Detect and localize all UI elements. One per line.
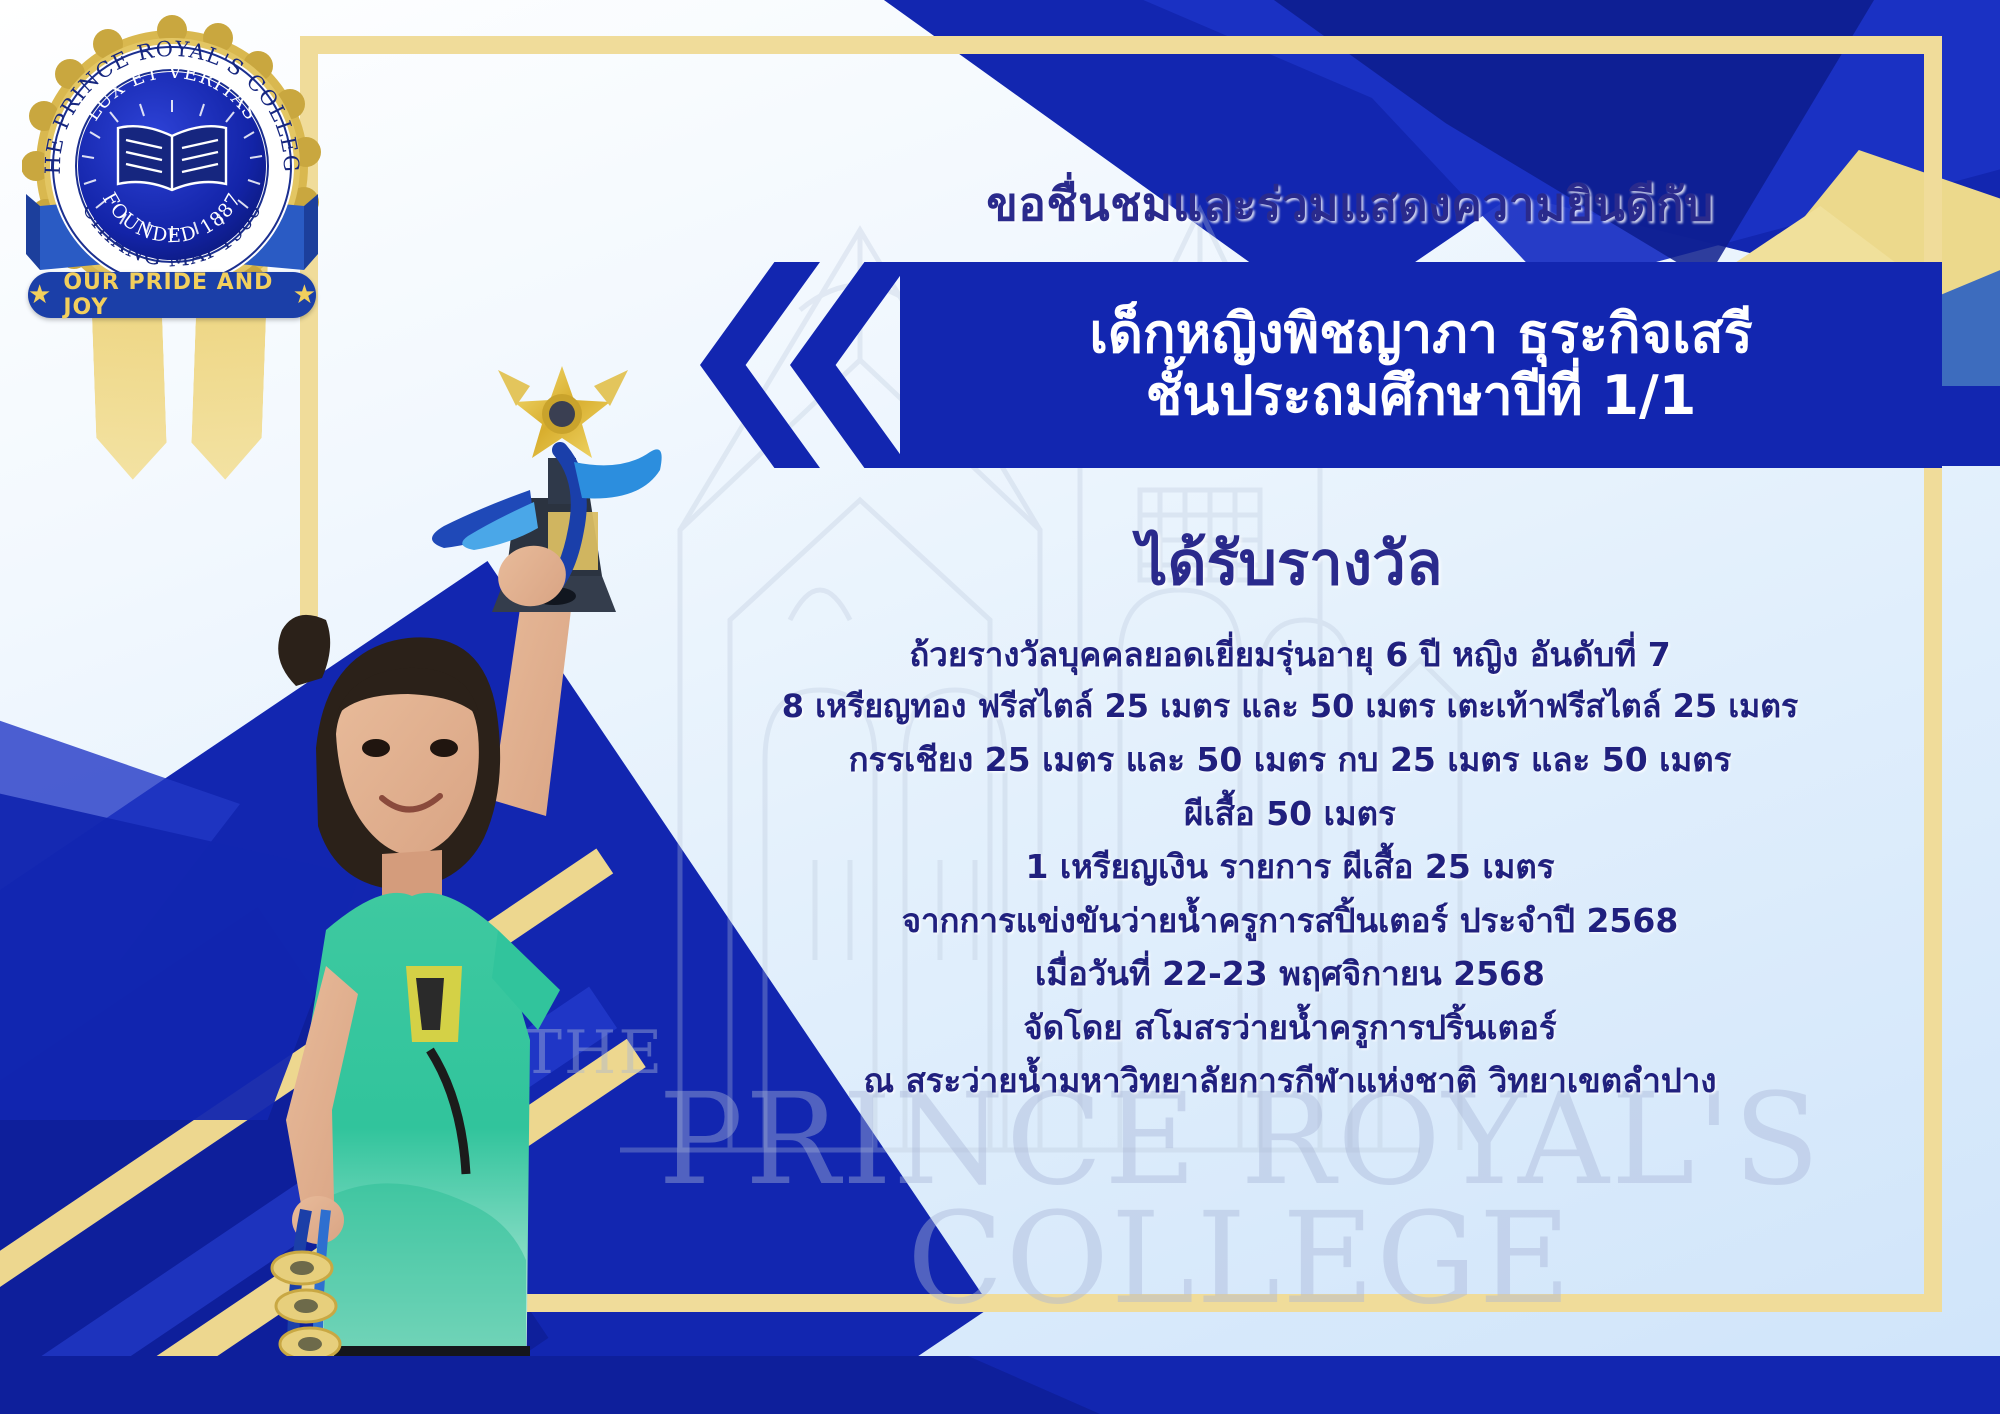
star-left-icon: ★ — [28, 282, 51, 308]
detail-line: กรรเชียง 25 เมตร และ 50 เมตร กบ 25 เมตร … — [640, 733, 1940, 786]
detail-line: เมื่อวันที่ 22-23 พฤศจิกายน 2568 — [640, 947, 1940, 1000]
congratulation-line: ขอชื่นชมและร่วมแสดงความยินดีกับ — [900, 168, 1800, 241]
bottom-dark-blue-strip — [0, 1356, 1100, 1414]
award-heading: ได้รับรางวัล — [790, 516, 1790, 611]
detail-line: ณ สระว่ายน้ำมหาวิทยาลัยการกีฬาแห่งชาติ ว… — [640, 1054, 1940, 1107]
award-details: ถ้วยรางวัลบุคคลยอดเยี่ยมรุ่นอายุ 6 ปี หญ… — [640, 628, 1940, 1107]
detail-line: 8 เหรียญทอง ฟรีสไตล์ 25 เมตร และ 50 เมตร… — [640, 681, 1940, 733]
open-book-icon — [118, 126, 226, 190]
student-name: เด็กหญิงพิชญาภา ธุระกิจเสรี — [1089, 304, 1752, 364]
pride-ribbon-label: OUR PRIDE AND JOY — [63, 270, 280, 320]
student-class: ชั้นประถมศึกษาปีที่ 1/1 — [1146, 366, 1697, 426]
detail-line: ถ้วยรางวัลบุคคลยอดเยี่ยมรุ่นอายุ 6 ปี หญ… — [640, 628, 1940, 681]
poster-canvas: THE PRINCE ROYAL'S COLLEGE — [0, 0, 2000, 1414]
frame-border-top — [300, 36, 1942, 54]
star-right-icon: ★ — [293, 282, 316, 308]
detail-line: 1 เหรียญเงิน รายการ ผีเสื้อ 25 เมตร — [640, 840, 1940, 893]
detail-line: ผีเสื้อ 50 เมตร — [640, 787, 1940, 840]
pride-ribbon: ★ OUR PRIDE AND JOY ★ — [28, 272, 316, 318]
detail-line: จัดโดย สโมสรว่ายน้ำครูการปริ้นเตอร์ — [640, 1001, 1940, 1054]
student-name-banner: เด็กหญิงพิชญาภา ธุระกิจเสรี ชั้นประถมศึก… — [900, 262, 1942, 468]
detail-line: จากการแข่งขันว่ายน้ำครูการสปิ้นเตอร์ ประ… — [640, 894, 1940, 947]
